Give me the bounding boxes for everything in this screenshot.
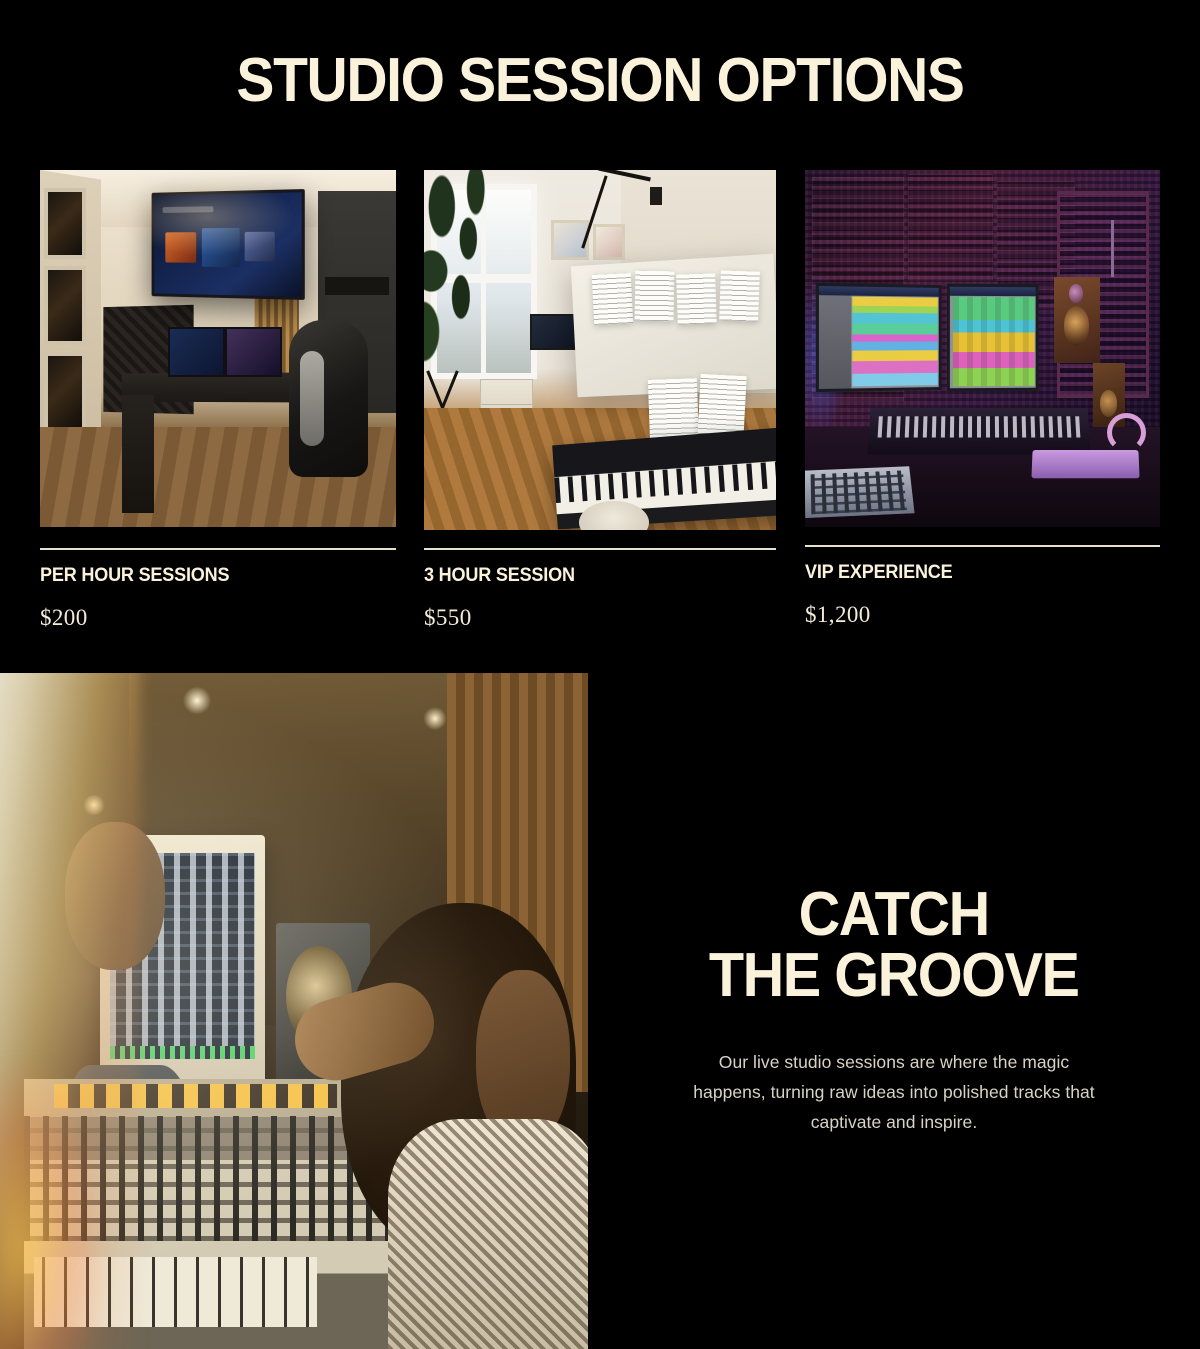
session-card-label: PER HOUR SESSIONS <box>40 565 378 587</box>
feature-body-text: Our live studio sessions are where the m… <box>684 1047 1104 1137</box>
wall-art-icon <box>44 352 87 431</box>
daw-monitor-icon <box>947 284 1039 392</box>
feature-image <box>0 673 588 1349</box>
feature-copy: CATCH THE GROOVE Our live studio session… <box>588 673 1200 1349</box>
studio-speaker-icon <box>1054 277 1100 363</box>
session-card-per-hour[interactable]: PER HOUR SESSIONS $200 <box>40 170 396 631</box>
sheet-music-icon <box>719 270 759 322</box>
feature-section: CATCH THE GROOVE Our live studio session… <box>0 673 1200 1349</box>
wall-art-icon <box>44 266 87 345</box>
monitor-icon <box>225 327 282 377</box>
gaming-chair-icon <box>289 320 367 477</box>
session-card-label: VIP EXPERIENCE <box>805 562 1142 584</box>
studio-sessions-page: STUDIO SESSION OPTIONS <box>0 0 1200 1349</box>
feature-title: CATCH THE GROOVE <box>709 885 1079 1007</box>
page-title: STUDIO SESSION OPTIONS <box>48 50 1152 112</box>
lens-flare <box>0 1065 106 1349</box>
computer-keyboard-icon <box>1032 451 1140 479</box>
headphones-icon <box>1107 413 1146 452</box>
session-card-price: $1,200 <box>805 602 1160 628</box>
microphone-boom-arm-icon <box>593 170 685 278</box>
card-divider <box>424 548 776 550</box>
monitor-icon <box>168 327 225 377</box>
computer-monitor-icon <box>530 314 579 350</box>
mixer-controller-icon <box>805 466 914 518</box>
session-options-grid: PER HOUR SESSIONS $200 <box>0 170 1200 640</box>
feature-title-line-2: THE GROOVE <box>709 946 1079 1007</box>
daw-monitor-icon <box>816 283 942 392</box>
session-card-3-hour[interactable]: 3 HOUR SESSION $550 <box>424 170 776 631</box>
midi-keyboard-icon <box>867 408 1090 454</box>
card-divider <box>40 548 396 550</box>
microphone-icon <box>1111 220 1114 277</box>
sheet-music-icon <box>592 273 633 325</box>
feature-title-line-1: CATCH <box>799 880 989 949</box>
session-card-vip[interactable]: VIP EXPERIENCE $1,200 <box>805 170 1160 628</box>
session-card-price: $550 <box>424 605 776 631</box>
card-divider <box>805 545 1160 547</box>
wall-art-icon <box>44 188 87 259</box>
sheet-music-icon <box>677 274 717 326</box>
session-card-image-vip <box>805 170 1160 527</box>
sheet-music-icon <box>635 270 675 321</box>
session-card-image-per-hour <box>40 170 396 527</box>
session-card-image-3-hour <box>424 170 776 530</box>
session-card-label: 3 HOUR SESSION <box>424 565 758 587</box>
session-card-price: $200 <box>40 605 396 631</box>
houseplant-icon <box>424 170 516 379</box>
